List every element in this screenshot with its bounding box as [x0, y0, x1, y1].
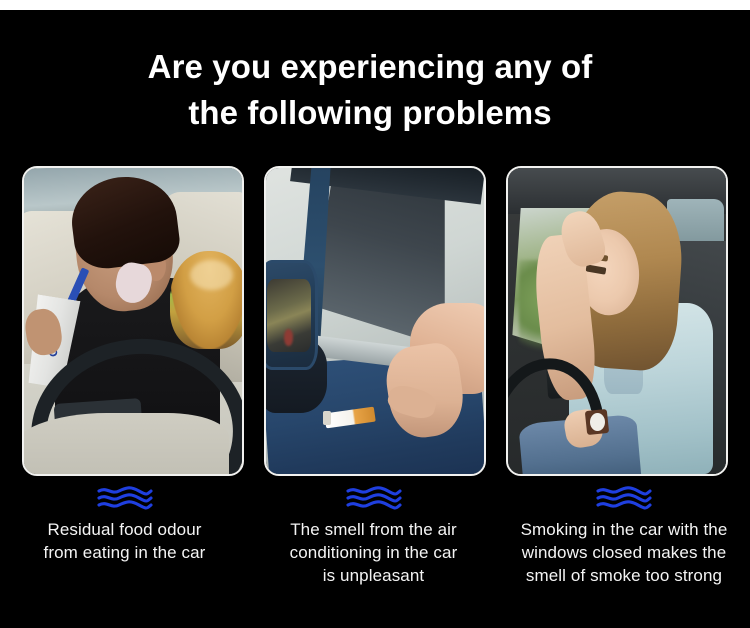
caption-block-2: The smell from the air conditioning in t… — [249, 486, 498, 628]
scene-eating-in-car: COLD — [24, 168, 242, 474]
title-line-1: Are you experiencing any of — [0, 44, 740, 90]
photo-panel-cigarette-out-window — [264, 166, 486, 476]
side-mirror-reflection — [284, 329, 294, 346]
scene-cigarette-out-window — [266, 168, 484, 474]
caption-text-2: The smell from the air conditioning in t… — [258, 518, 490, 587]
wristwatch-face — [590, 413, 605, 431]
page-title: Are you experiencing any of the followin… — [0, 44, 740, 136]
caption-text-1: Residual food odour from eating in the c… — [16, 518, 234, 564]
wave-lines-icon — [96, 486, 154, 510]
photo-panel-eating-in-car: COLD — [22, 166, 244, 476]
promo-infographic: Are you experiencing any of the followin… — [0, 0, 750, 628]
side-mirror — [266, 260, 318, 370]
wave-lines-icon — [595, 486, 653, 510]
top-white-strip — [0, 0, 750, 10]
caption-text-3: Smoking in the car with the windows clos… — [498, 518, 750, 587]
title-line-2: the following problems — [0, 90, 740, 136]
caption-block-1: Residual food odour from eating in the c… — [0, 486, 249, 628]
wave-lines-icon — [345, 486, 403, 510]
dashboard — [24, 413, 229, 474]
cigarette-ash-tip — [323, 411, 332, 425]
photo-panel-row: COLD — [22, 166, 728, 476]
caption-block-3: Smoking in the car with the windows clos… — [498, 486, 750, 628]
photo-panel-distressed-passenger — [506, 166, 728, 476]
scene-distressed-passenger — [508, 168, 726, 474]
caption-row: Residual food odour from eating in the c… — [0, 486, 750, 628]
